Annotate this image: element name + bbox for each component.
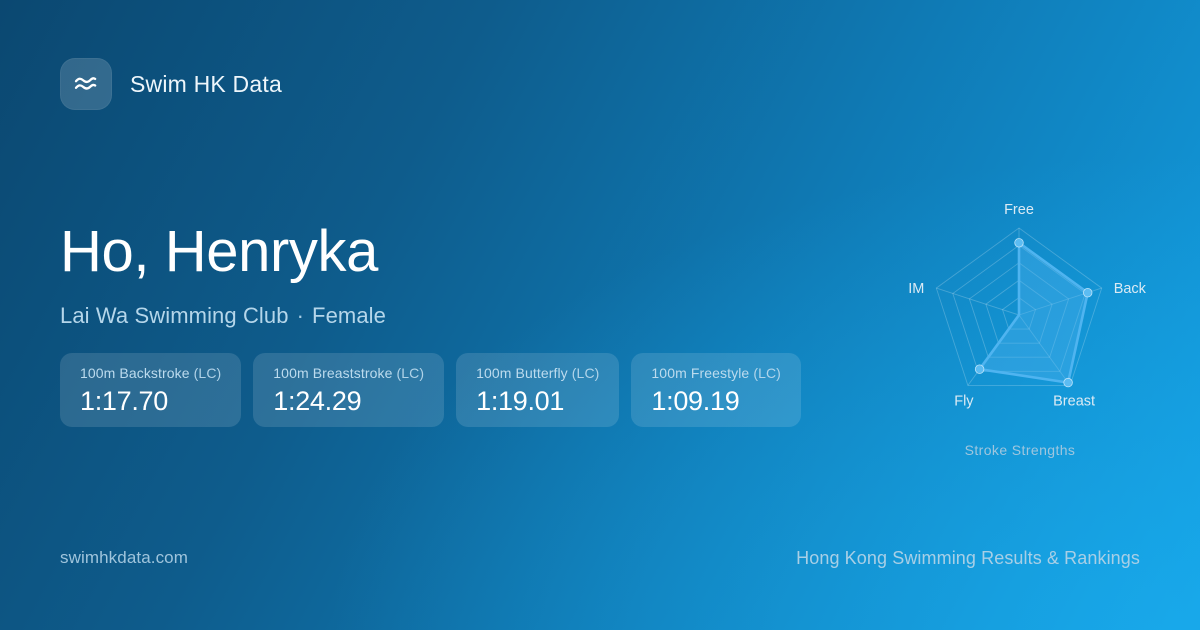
radar-axis-label-breast: Breast: [1053, 393, 1095, 409]
event-card: 100m Freestyle (LC) 1:09.19: [631, 353, 801, 427]
event-label: 100m Backstroke (LC): [80, 365, 221, 381]
footer-site-url: swimhkdata.com: [60, 548, 188, 568]
wave-approx-icon: [60, 58, 112, 110]
event-course: (LC): [753, 365, 781, 381]
brand-header: Swim HK Data: [60, 58, 282, 110]
radar-axis-label-fly: Fly: [954, 393, 974, 409]
event-name: 100m Freestyle: [651, 365, 749, 381]
radar-series-area: [980, 243, 1088, 383]
radar-axis-label-im: IM: [908, 281, 924, 297]
event-label: 100m Breaststroke (LC): [273, 365, 424, 381]
event-card: 100m Backstroke (LC) 1:17.70: [60, 353, 241, 427]
radar-axis-label-free: Free: [1004, 202, 1034, 218]
event-label: 100m Freestyle (LC): [651, 365, 781, 381]
event-name: 100m Butterfly: [476, 365, 568, 381]
page-title: Ho, Henryka: [60, 222, 860, 283]
og-share-card: Swim HK Data Ho, Henryka Lai Wa Swimming…: [0, 0, 1200, 630]
stroke-strengths-radar-chart: FreeBackBreastFlyIM Stroke Strengths: [870, 170, 1170, 470]
athlete-club: Lai Wa Swimming Club: [60, 303, 289, 328]
footer-tagline: Hong Kong Swimming Results & Rankings: [796, 548, 1140, 569]
athlete-meta: Lai Wa Swimming Club·Female: [60, 303, 860, 329]
chart-caption: Stroke Strengths: [870, 442, 1170, 458]
event-time: 1:24.29: [273, 388, 424, 415]
event-time: 1:19.01: [476, 388, 599, 415]
event-card: 100m Breaststroke (LC) 1:24.29: [253, 353, 444, 427]
event-course: (LC): [194, 365, 222, 381]
event-label: 100m Butterfly (LC): [476, 365, 599, 381]
brand-name: Swim HK Data: [130, 71, 282, 98]
event-name: 100m Breaststroke: [273, 365, 392, 381]
event-card: 100m Butterfly (LC) 1:19.01: [456, 353, 619, 427]
athlete-gender: Female: [312, 303, 386, 328]
event-time: 1:09.19: [651, 388, 781, 415]
radar-axis-label-back: Back: [1114, 281, 1147, 297]
event-time: 1:17.70: [80, 388, 221, 415]
athlete-block: Ho, Henryka Lai Wa Swimming Club·Female: [60, 222, 860, 329]
event-course: (LC): [572, 365, 600, 381]
event-name: 100m Backstroke: [80, 365, 190, 381]
meta-separator: ·: [297, 303, 304, 329]
event-course: (LC): [397, 365, 425, 381]
event-card-list: 100m Backstroke (LC) 1:17.70 100m Breast…: [60, 353, 801, 427]
